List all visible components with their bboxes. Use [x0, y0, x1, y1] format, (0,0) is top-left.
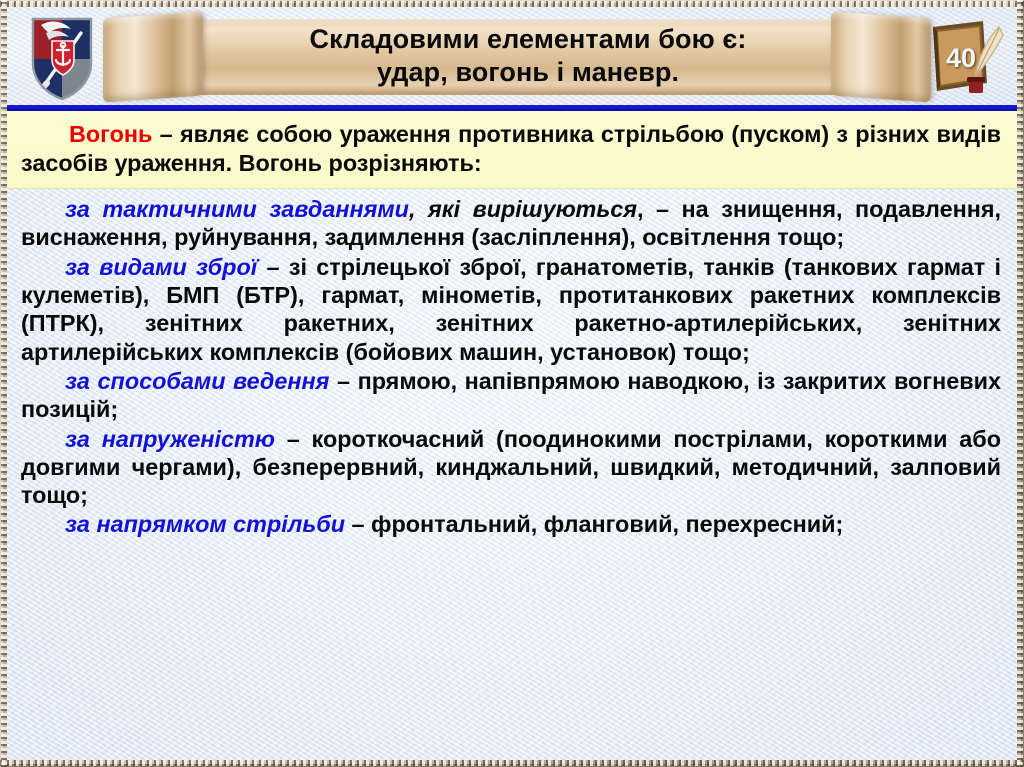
- page-title-line-1: Складовими елементами бою є:: [310, 23, 747, 56]
- list-item-label: за видами зброї: [65, 254, 257, 280]
- list-item-label: за способами ведення: [65, 368, 329, 394]
- frame-ornament-right: [1017, 0, 1023, 767]
- frame-ornament-bottom: [0, 760, 1024, 766]
- definition-callout: Вогонь – являє собою ураження противника…: [7, 111, 1017, 189]
- military-coat-of-arms-icon: [29, 13, 95, 101]
- list-item-label: за тактичними завданнями: [65, 196, 409, 222]
- slide-root: Складовими елементами бою є: удар, вогон…: [0, 0, 1024, 767]
- list-item: за видами зброї – зі стрілецької зброї, …: [21, 253, 1001, 366]
- page-title-line-2: удар, вогонь і маневр.: [377, 56, 679, 89]
- page-title: Складовими елементами бою є: удар, вогон…: [157, 13, 899, 99]
- slide-inner: Складовими елементами бою є: удар, вогон…: [7, 7, 1017, 760]
- list-item: за напруженістю – короткочасний (поодино…: [21, 425, 1001, 510]
- definition-keyword: Вогонь: [69, 121, 152, 147]
- list-item-label: за напруженістю: [65, 426, 275, 452]
- list-item: за способами ведення – прямою, напівпрям…: [21, 367, 1001, 424]
- book-quill-icon: 40: [925, 15, 1007, 101]
- slide-body: Вогонь – являє собою ураження противника…: [7, 111, 1017, 760]
- page-number: 40: [937, 43, 985, 74]
- definition-text: – являє собою ураження противника стріль…: [21, 121, 1001, 176]
- slide-header: Складовими елементами бою є: удар, вогон…: [7, 7, 1017, 105]
- classification-list: за тактичними завданнями, які вирішуютьс…: [7, 189, 1017, 539]
- list-item-label: за напрямком стрільби: [65, 511, 345, 537]
- list-item-body: – фронтальний, фланговий, перехресний;: [345, 511, 843, 537]
- list-item-label-tail: , які вирішуються: [409, 196, 637, 222]
- list-item: за напрямком стрільби – фронтальний, фла…: [21, 510, 1001, 538]
- definition-paragraph: Вогонь – являє собою ураження противника…: [21, 120, 1001, 178]
- list-item: за тактичними завданнями, які вирішуютьс…: [21, 195, 1001, 252]
